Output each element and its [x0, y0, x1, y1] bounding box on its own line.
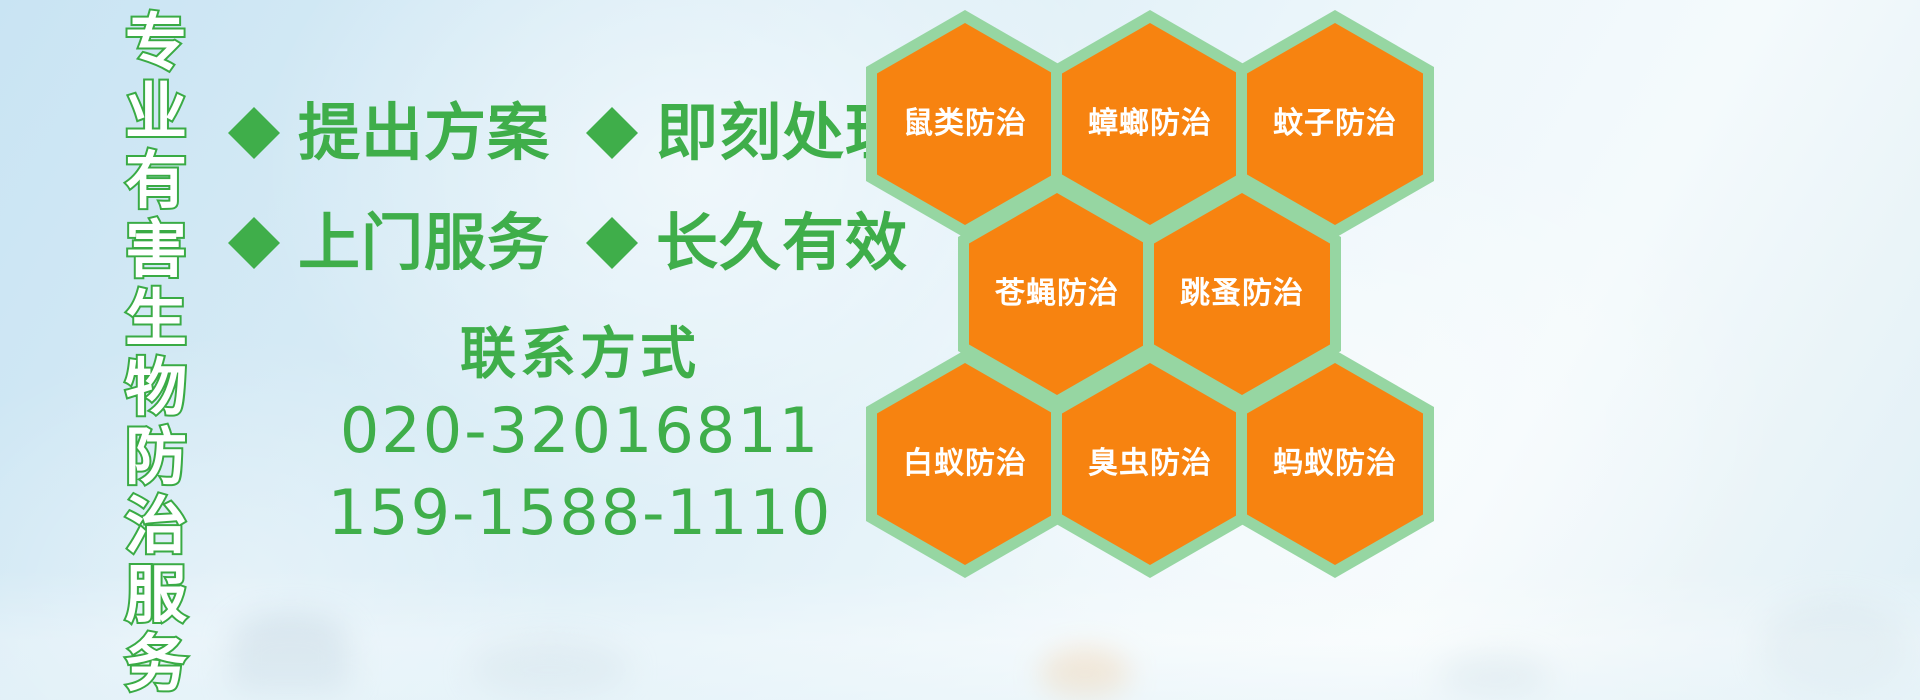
diamond-icon	[228, 81, 280, 133]
feature-label: 上门服务	[298, 212, 550, 274]
service-label: 臭虫防治	[1088, 449, 1212, 479]
service-hex-termite[interactable]: 白蚁防治	[866, 350, 1064, 578]
diamond-icon	[586, 191, 638, 243]
vertical-headline-char: 防	[125, 422, 187, 491]
service-label: 蚊子防治	[1273, 109, 1397, 139]
vertical-headline-char: 生	[125, 284, 187, 353]
service-hexagon-cluster: 鼠类防治 蟑螂防治 蚊子防治 苍蝇防治 跳蚤防治	[860, 0, 1480, 700]
contact-phone-mobile[interactable]: 159-1588-1110	[300, 472, 860, 554]
background-blur-shape	[470, 640, 630, 700]
background-blur-shape	[230, 615, 350, 695]
contact-title: 联系方式	[300, 320, 860, 390]
service-label: 蚂蚁防治	[1273, 449, 1397, 479]
service-label: 蟑螂防治	[1088, 109, 1212, 139]
contact-block: 联系方式 020-32016811 159-1588-1110	[300, 320, 860, 554]
feature-item-onsite-service: 上门服务	[228, 212, 550, 274]
feature-label: 提出方案	[298, 102, 550, 164]
feature-item-propose-plan: 提出方案	[228, 102, 550, 164]
background-blur-shape	[1760, 600, 1910, 700]
vertical-headline-char: 业	[125, 77, 187, 146]
feature-row: 提出方案 即刻处理	[228, 78, 888, 188]
vertical-headline-char: 务	[125, 629, 187, 698]
feature-list: 提出方案 即刻处理 上门服务 长久有效	[228, 78, 888, 298]
vertical-headline-char: 专	[125, 8, 187, 77]
vertical-headline-char: 物	[125, 353, 187, 422]
diamond-icon	[228, 191, 280, 243]
vertical-headline-char: 服	[125, 560, 187, 629]
service-label: 鼠类防治	[903, 109, 1027, 139]
feature-row: 上门服务 长久有效	[228, 188, 888, 298]
service-label: 跳蚤防治	[1180, 279, 1304, 309]
service-hex-ant[interactable]: 蚂蚁防治	[1236, 350, 1434, 578]
vertical-headline-char: 有	[125, 146, 187, 215]
vertical-headline-char: 治	[125, 491, 187, 560]
service-label: 白蚁防治	[903, 449, 1027, 479]
diamond-icon	[586, 81, 638, 133]
pest-control-banner: 专 业 有 害 生 物 防 治 服 务 提出方案 即刻处理 上门服务	[0, 0, 1920, 700]
service-hex-bedbug[interactable]: 臭虫防治	[1051, 350, 1249, 578]
service-label: 苍蝇防治	[995, 279, 1119, 309]
vertical-headline-char: 害	[125, 215, 187, 284]
vertical-headline: 专 业 有 害 生 物 防 治 服 务	[108, 8, 204, 568]
contact-phone-landline[interactable]: 020-32016811	[300, 390, 860, 472]
